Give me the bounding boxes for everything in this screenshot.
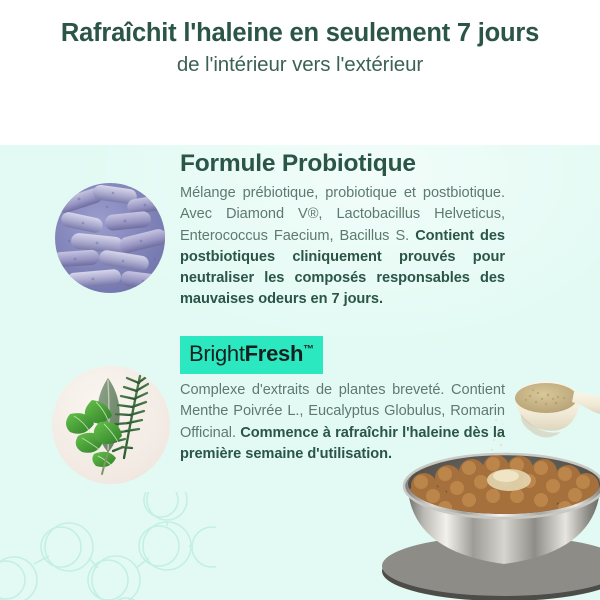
fresh-herbs-mint-rosemary-image [52, 366, 170, 484]
brightfresh-text-column: BrightFresh™ Complexe d'extraits de plan… [180, 336, 505, 465]
probiotic-bacteria-microscopy-image [55, 183, 165, 293]
header: Rafraîchit l'haleine en seulement 7 jour… [0, 0, 600, 145]
page-title: Rafraîchit l'haleine en seulement 7 jour… [0, 18, 600, 48]
probiotic-text-column: Formule Probiotique Mélange prébiotique,… [180, 150, 505, 311]
molecule-structure-watermark-icon [0, 492, 216, 600]
probiotic-heading: Formule Probiotique [180, 150, 505, 179]
trademark-icon: ™ [303, 344, 314, 356]
probiotic-body: Mélange prébiotique, probiotique et post… [180, 183, 505, 311]
brightfresh-body: Complexe d'extraits de plantes breveté. … [180, 380, 505, 465]
brightfresh-badge: BrightFresh™ [180, 336, 323, 374]
badge-light-text: Bright [189, 341, 245, 366]
infographic-page: Rafraîchit l'haleine en seulement 7 jour… [0, 0, 600, 600]
supplement-scoop [515, 381, 600, 437]
badge-bold-text: Fresh [245, 341, 303, 366]
page-subtitle: de l'intérieur vers l'extérieur [0, 52, 600, 78]
